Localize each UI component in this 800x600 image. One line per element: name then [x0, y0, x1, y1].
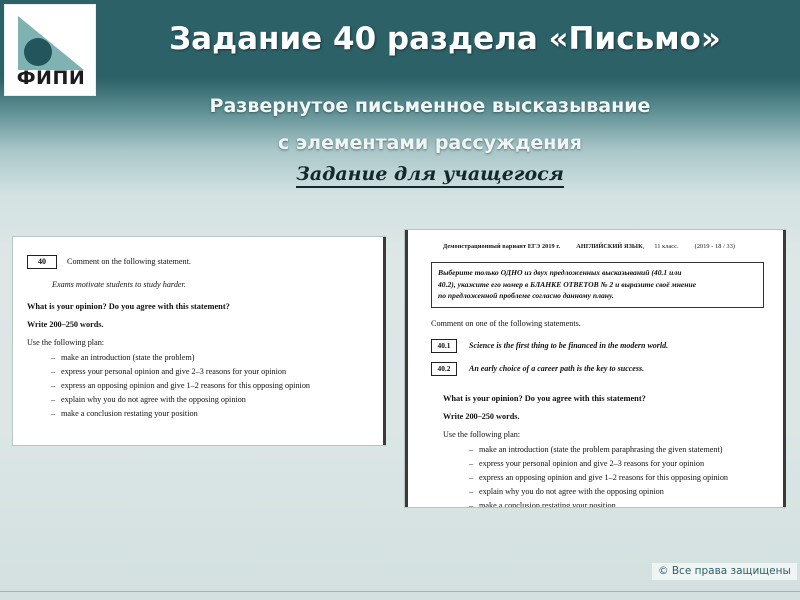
document-panel-right: Демонстрационный вариант ЕГЭ 2019 г.АНГЛ… [404, 229, 786, 508]
task-question: What is your opinion? Do you agree with … [443, 392, 764, 405]
plan-item: –express an opposing opinion and give 1–… [27, 379, 370, 393]
subtitle-line-1: Развернутое письменное высказывание [100, 96, 760, 118]
plan-item: –make an introduction (state the problem… [443, 443, 764, 457]
spacer [443, 385, 764, 392]
plan-item-text: explain why you do not agree with the op… [479, 487, 664, 496]
dash-icon: – [51, 351, 55, 365]
plan-list-left: –make an introduction (state the problem… [27, 351, 370, 421]
exam-subject-label: АНГЛИЙСКИЙ ЯЗЫК [576, 243, 642, 250]
statement-text: An early choice of a career path is the … [469, 362, 644, 375]
dash-icon: – [469, 457, 473, 471]
dash-icon: – [51, 393, 55, 407]
plan-item: –make a conclusion restating your positi… [27, 407, 370, 421]
document-left-content: 40 Comment on the following statement. E… [13, 237, 386, 431]
plan-heading: Use the following plan: [443, 428, 764, 441]
plan-item: –make a conclusion restating your positi… [443, 499, 764, 509]
page-title: Задание 40 раздела «Письмо» [100, 22, 790, 56]
plan-item: –express your personal opinion and give … [27, 365, 370, 379]
instruction-line: по предложенной проблеме согласно данном… [438, 290, 757, 302]
dash-icon: – [469, 485, 473, 499]
plan-item: –explain why you do not agree with the o… [443, 485, 764, 499]
document-right-content: Демонстрационный вариант ЕГЭ 2019 г.АНГЛ… [405, 230, 786, 508]
subtitle-line-3-text: Задание для учащегося [296, 163, 564, 188]
task-header-row: 40 Comment on the following statement. [27, 255, 370, 269]
fipi-logo-label: ФИПИ [5, 69, 97, 88]
spacer [431, 308, 764, 317]
plan-block-right: What is your opinion? Do you agree with … [443, 376, 764, 509]
subtitle-line-2: с элементами рассуждения [100, 133, 760, 155]
dash-icon: – [51, 379, 55, 393]
plan-item-text: make an introduction (state the problem) [61, 353, 194, 362]
exam-page-label: (2019 - 18 / 33) [695, 243, 735, 250]
dash-icon: – [51, 365, 55, 379]
plan-item-text: express your personal opinion and give 2… [479, 459, 704, 468]
dash-icon: – [51, 407, 55, 421]
statement-row: 40.1 Science is the first thing to be fi… [431, 339, 764, 353]
plan-item-text: make a conclusion restating your positio… [479, 501, 616, 509]
statement-row: 40.2 An early choice of a career path is… [431, 362, 764, 376]
dash-icon: – [469, 443, 473, 457]
instruction-line: 40.2), укажите его номер в БЛАНКЕ ОТВЕТО… [438, 279, 757, 291]
task-word-count: Write 200–250 words. [443, 410, 764, 423]
plan-item: –express your personal opinion and give … [443, 457, 764, 471]
task-statement: Exams motivate students to study harder. [52, 278, 370, 291]
document-header-line: Демонстрационный вариант ЕГЭ 2019 г.АНГЛ… [443, 242, 764, 252]
word-count-text: Write 200–250 words. [443, 412, 520, 421]
statement-number-box: 40.1 [431, 339, 457, 353]
task-number-box: 40 [27, 255, 57, 269]
plan-item-text: make a conclusion restating your positio… [61, 409, 198, 418]
plan-list-right: –make an introduction (state the problem… [443, 443, 764, 509]
task-question: What is your opinion? Do you agree with … [27, 300, 370, 313]
exam-grade-label: 11 класс. [654, 243, 678, 250]
copyright-badge: © Все права защищены [652, 563, 797, 580]
spacer [27, 291, 370, 300]
plan-item: –make an introduction (state the problem… [27, 351, 370, 365]
bottom-divider [0, 591, 800, 592]
exam-variant-label: Демонстрационный вариант ЕГЭ 2019 г. [443, 243, 560, 250]
document-panel-left: 40 Comment on the following statement. E… [12, 236, 386, 446]
task-instruction: Comment on the following statement. [67, 255, 191, 268]
spacer [443, 376, 764, 385]
plan-item-text: make an introduction (state the problem … [479, 445, 723, 454]
plan-item-text: explain why you do not agree with the op… [61, 395, 246, 404]
plan-heading: Use the following plan: [27, 336, 370, 349]
fipi-logo-mark [16, 14, 86, 72]
instruction-line: Выберите только ОДНО из двух предложенны… [438, 267, 757, 279]
plan-item-text: express an opposing opinion and give 1–2… [479, 473, 728, 482]
plan-item-text: express your personal opinion and give 2… [61, 367, 286, 376]
task-word-count: Write 200–250 words. [27, 318, 370, 331]
plan-item: –express an opposing opinion and give 1–… [443, 471, 764, 485]
spacer [27, 269, 370, 278]
plan-item: –explain why you do not agree with the o… [27, 393, 370, 407]
statement-number-box: 40.2 [431, 362, 457, 376]
dash-icon: – [469, 471, 473, 485]
task-instruction: Comment on one of the following statemen… [431, 317, 764, 330]
dash-icon: – [469, 499, 473, 509]
fipi-logo: ФИПИ [4, 4, 96, 96]
slide-canvas: ФИПИ Задание 40 раздела «Письмо» Разверн… [0, 0, 800, 600]
plan-item-text: express an opposing opinion and give 1–2… [61, 381, 310, 390]
instruction-box: Выберите только ОДНО из двух предложенны… [431, 262, 764, 308]
statement-text: Science is the first thing to be finance… [469, 339, 668, 352]
word-count-text: Write 200–250 words. [27, 320, 104, 329]
subtitle-line-3: Задание для учащегося [100, 163, 760, 185]
